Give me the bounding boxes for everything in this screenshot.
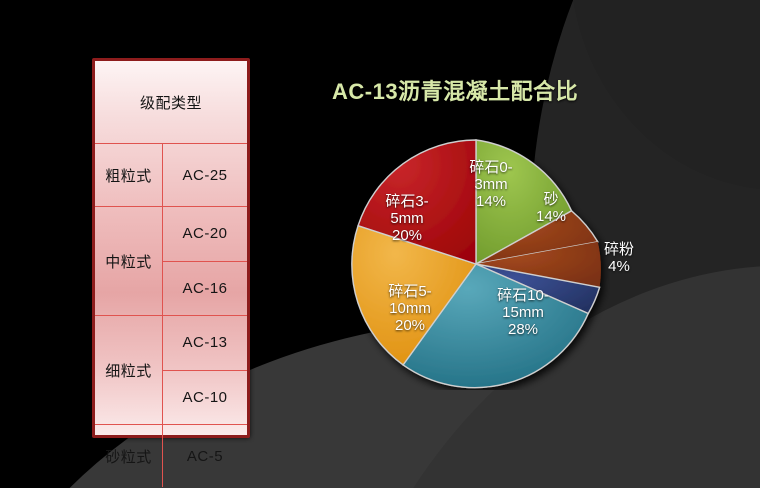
table-cell-codes: AC-20 AC-16 xyxy=(163,207,247,315)
pie-chart-svg xyxy=(342,138,610,390)
chart-title: AC-13沥青混凝土配合比 xyxy=(332,74,662,106)
category-label: 砂粒式 xyxy=(105,446,152,467)
code-label: AC-13 xyxy=(182,334,227,351)
table-row: 细粒式 AC-13 AC-10 xyxy=(95,315,247,424)
table-cell-category: 中粒式 xyxy=(95,207,163,315)
code-label: AC-25 xyxy=(182,167,227,184)
table-cell-code: AC-10 xyxy=(163,370,247,425)
table-row: 砂粒式 AC-5 xyxy=(95,424,247,487)
table-cell-code: AC-13 xyxy=(163,316,247,370)
table-cell-category: 砂粒式 xyxy=(95,425,163,487)
table-cell-category: 粗粒式 xyxy=(95,144,163,206)
table-cell-code: AC-5 xyxy=(163,425,247,487)
table-row: 粗粒式 AC-25 xyxy=(95,143,247,206)
table-cell-codes: AC-25 xyxy=(163,144,247,206)
table-cell-code: AC-20 xyxy=(163,207,247,261)
table-cell-code: AC-25 xyxy=(163,144,247,206)
code-label: AC-16 xyxy=(182,280,227,297)
table-cell-code: AC-16 xyxy=(163,261,247,316)
category-label: 细粒式 xyxy=(105,360,152,381)
code-label: AC-5 xyxy=(187,448,223,465)
category-label: 中粒式 xyxy=(105,251,152,272)
code-label: AC-20 xyxy=(182,225,227,242)
pie-chart: 碎石0- 3mm 14% 砂 14% 碎粉 4% 碎石10- 15mm 28% … xyxy=(342,138,610,390)
code-label: AC-10 xyxy=(182,389,227,406)
table-header-row: 级配类型 xyxy=(95,61,247,143)
category-label: 粗粒式 xyxy=(105,165,152,186)
pie-slices xyxy=(352,140,601,388)
presentation-slide: 级配类型 粗粒式 AC-25 中粒式 AC-20 AC-16 xyxy=(0,0,760,488)
table-cell-category: 细粒式 xyxy=(95,316,163,424)
table-row: 中粒式 AC-20 AC-16 xyxy=(95,206,247,315)
table-cell-codes: AC-5 xyxy=(163,425,247,487)
grade-type-table: 级配类型 粗粒式 AC-25 中粒式 AC-20 AC-16 xyxy=(92,58,250,438)
table-header-label: 级配类型 xyxy=(140,92,202,113)
table-cell-codes: AC-13 AC-10 xyxy=(163,316,247,424)
